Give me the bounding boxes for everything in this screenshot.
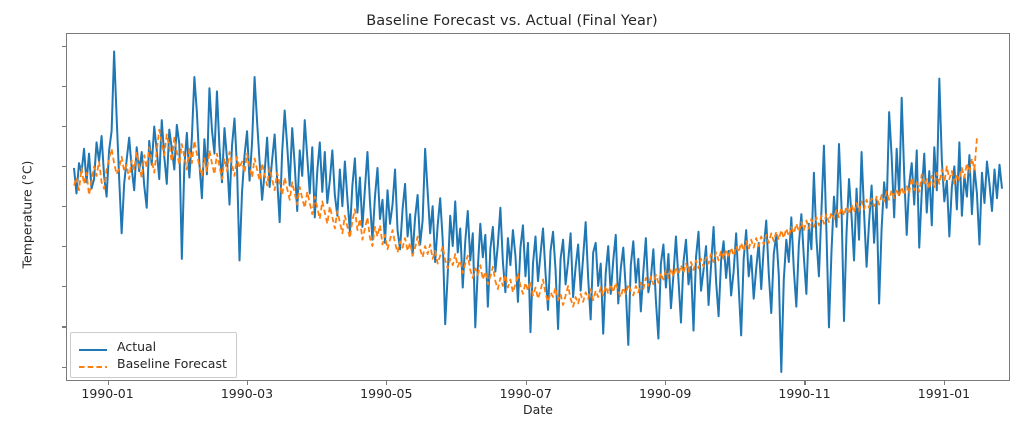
series-line-actual <box>74 52 1002 372</box>
x-tick-label: 1990-07 <box>500 386 552 401</box>
legend-label: Baseline Forecast <box>117 356 227 371</box>
x-tick-mark <box>804 381 805 385</box>
x-tick-label: 1990-01 <box>81 386 133 401</box>
y-axis-label: Temperature (°C) <box>20 145 35 285</box>
chart-figure: Baseline Forecast vs. Actual (Final Year… <box>0 0 1024 424</box>
legend-label: Actual <box>117 339 156 354</box>
legend-swatch <box>78 358 108 370</box>
x-tick-label: 1991-01 <box>918 386 970 401</box>
series-canvas <box>67 34 1009 380</box>
x-tick-mark <box>247 381 248 385</box>
legend-item[interactable]: Baseline Forecast <box>78 355 227 372</box>
legend-swatch <box>78 341 108 353</box>
legend-item[interactable]: Actual <box>78 338 227 355</box>
x-axis-label: Date <box>66 402 1010 417</box>
x-tick-mark <box>665 381 666 385</box>
x-tick-mark <box>944 381 945 385</box>
plot-area <box>66 33 1010 381</box>
x-tick-label: 1990-05 <box>360 386 412 401</box>
x-tick-label: 1990-09 <box>639 386 691 401</box>
chart-title: Baseline Forecast vs. Actual (Final Year… <box>0 13 1024 29</box>
x-tick-label: 1990-11 <box>778 386 830 401</box>
x-tick-mark <box>108 381 109 385</box>
x-tick-label: 1990-03 <box>221 386 273 401</box>
x-tick-mark <box>526 381 527 385</box>
chart-legend: ActualBaseline Forecast <box>70 332 237 378</box>
x-tick-mark <box>386 381 387 385</box>
